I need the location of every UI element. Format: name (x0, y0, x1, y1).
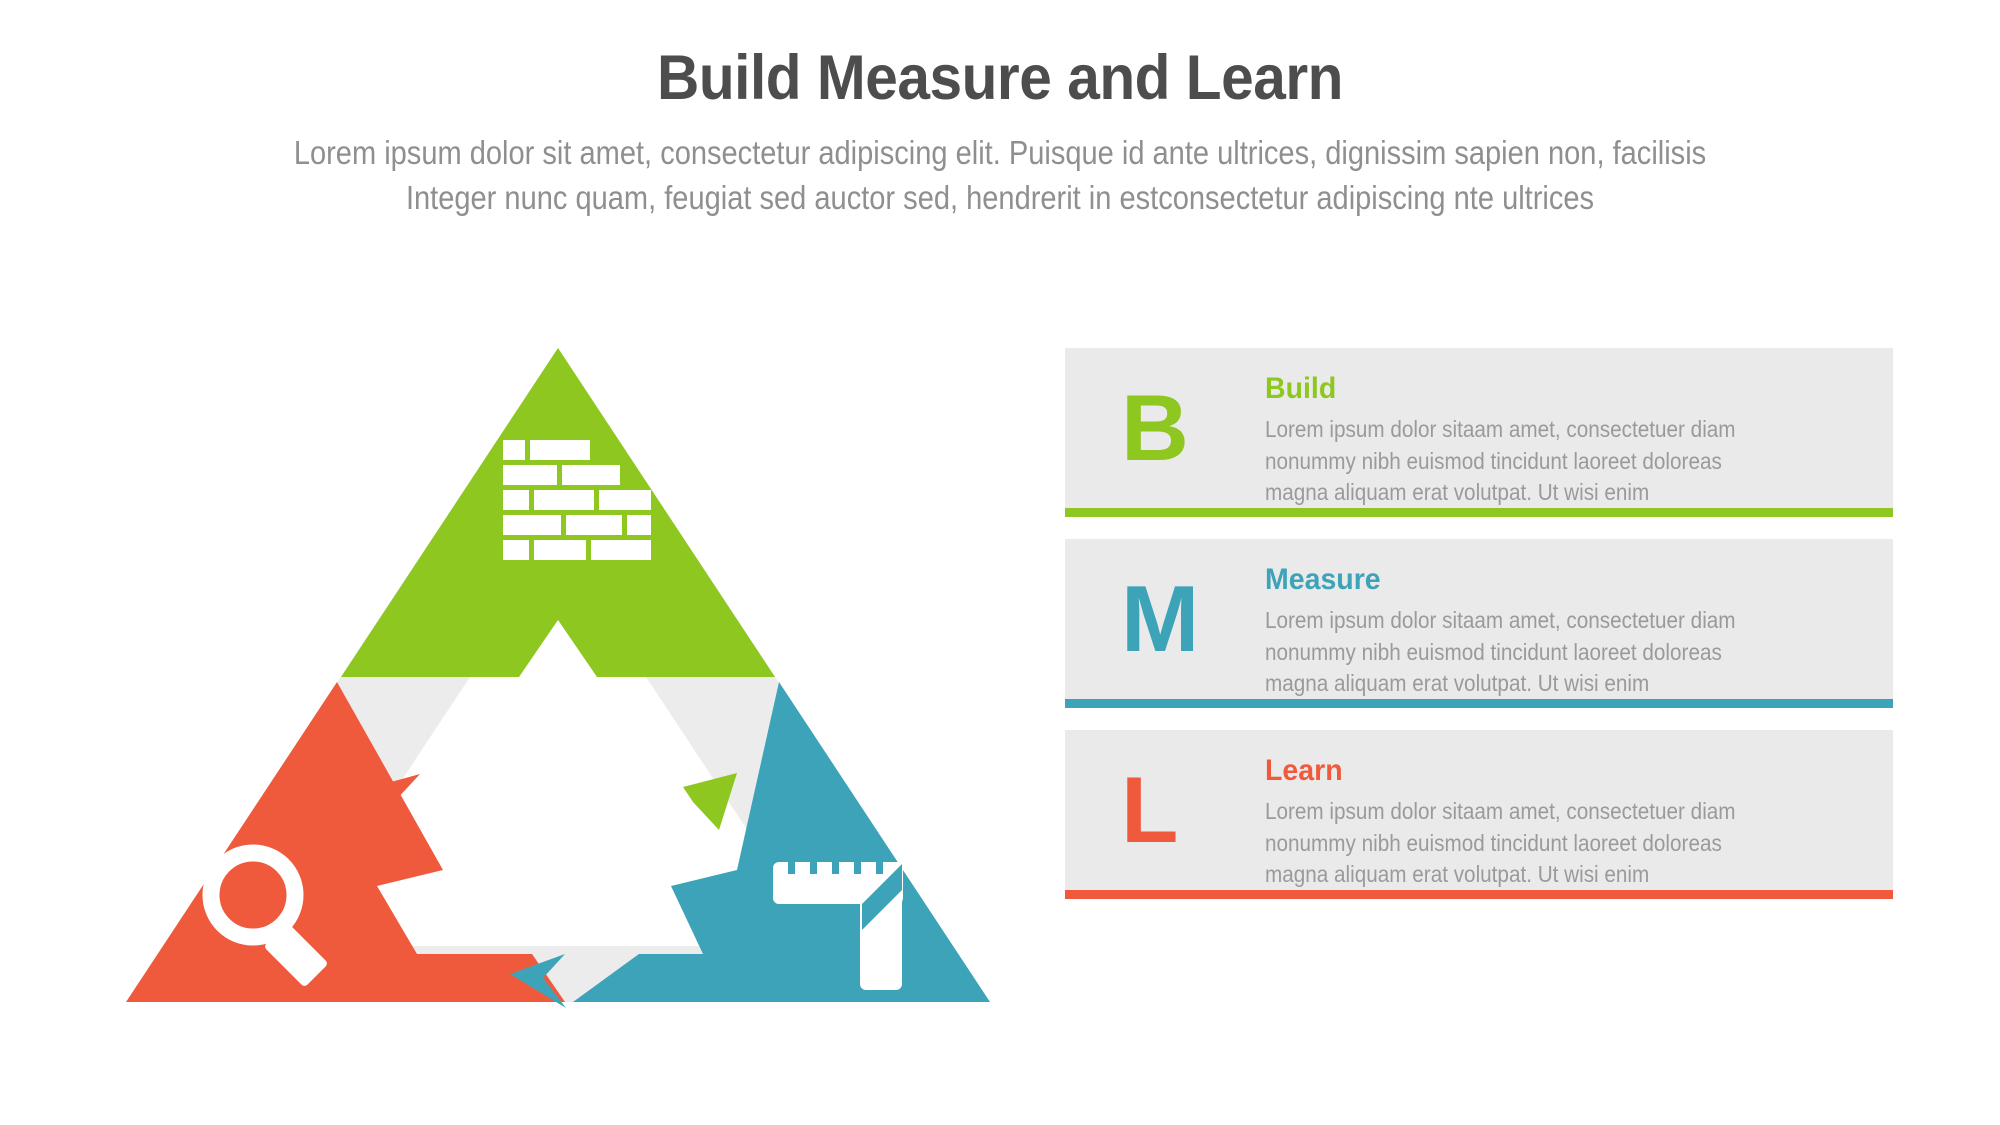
diagram-segment-learn[interactable] (126, 682, 565, 1002)
card-letter-b: B (1121, 381, 1189, 475)
card-accent-build (1065, 508, 1893, 517)
card-text-build: Lorem ipsum dolor sitaam amet, consectet… (1265, 414, 1772, 509)
header: Build Measure and Learn Lorem ipsum dolo… (0, 0, 2000, 221)
card-body-learn: Learn Lorem ipsum dolor sitaam amet, con… (1265, 756, 1773, 891)
page-subtitle: Lorem ipsum dolor sit amet, consectetur … (120, 112, 1880, 221)
learn-segment (126, 682, 565, 1002)
card-heading-learn: Learn (1265, 756, 1748, 786)
card-text-learn: Lorem ipsum dolor sitaam amet, consectet… (1265, 796, 1772, 891)
card-heading-measure: Measure (1265, 565, 1748, 595)
subtitle-line-2: Integer nunc quam, feugiat sed auctor se… (120, 175, 1880, 221)
build-segment (341, 348, 775, 677)
diagram-segment-build[interactable] (341, 348, 775, 677)
page-title: Build Measure and Learn (70, 0, 1930, 112)
card-heading-build: Build (1265, 374, 1748, 404)
card-learn[interactable]: L Learn Lorem ipsum dolor sitaam amet, c… (1065, 730, 1893, 890)
build-measure-learn-diagram (118, 330, 998, 1010)
card-build[interactable]: B Build Lorem ipsum dolor sitaam amet, c… (1065, 348, 1893, 508)
card-measure[interactable]: M Measure Lorem ipsum dolor sitaam amet,… (1065, 539, 1893, 699)
card-letter-l: L (1121, 763, 1178, 857)
card-body-measure: Measure Lorem ipsum dolor sitaam amet, c… (1265, 565, 1773, 700)
card-accent-measure (1065, 699, 1893, 708)
subtitle-line-1: Lorem ipsum dolor sit amet, consectetur … (120, 130, 1880, 176)
infographic-canvas: Build Measure and Learn Lorem ipsum dolo… (0, 0, 2000, 1125)
detail-cards: B Build Lorem ipsum dolor sitaam amet, c… (1065, 348, 1893, 890)
card-text-measure: Lorem ipsum dolor sitaam amet, consectet… (1265, 605, 1772, 700)
card-body-build: Build Lorem ipsum dolor sitaam amet, con… (1265, 374, 1773, 509)
card-letter-m: M (1121, 572, 1199, 666)
card-accent-learn (1065, 890, 1893, 899)
